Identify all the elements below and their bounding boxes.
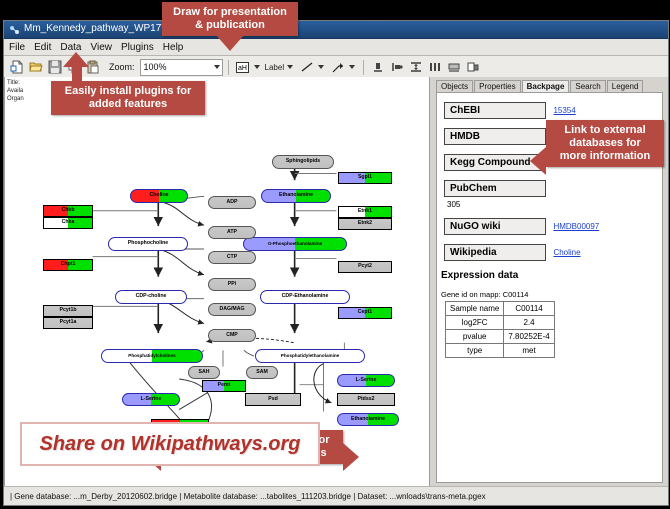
- order-tool-icon[interactable]: [464, 59, 481, 76]
- node-label: Ptdss2: [357, 397, 374, 402]
- section-pubchem-title: PubChem: [444, 180, 546, 197]
- gene-node-etnk1[interactable]: Etnk1: [338, 206, 392, 218]
- table-cell-key: type: [446, 344, 504, 358]
- metabolite-node-sam[interactable]: SAM: [246, 366, 278, 379]
- node-label: CDP-Ethanolamine: [282, 294, 329, 299]
- expression-table: Sample nameC00114log2FC2.4pvalue7.80252E…: [445, 301, 555, 358]
- node-label: Psd: [268, 397, 278, 402]
- align-top-icon[interactable]: [369, 59, 386, 76]
- line-tool-icon[interactable]: [298, 59, 315, 76]
- pathvisio-window: Mm_Kennedy_pathway_WP1771_45176.gpml Fil…: [3, 20, 669, 506]
- table-row: log2FC2.4: [446, 316, 555, 330]
- metabolite-node-ethanolamine-right[interactable]: Ethanolamine: [337, 413, 399, 426]
- gene-node-etnk2[interactable]: Etnk2: [338, 218, 392, 230]
- gene-node-pcyt2[interactable]: Pcyt2: [338, 261, 392, 273]
- share-banner: Share on Wikipathways.org: [20, 422, 320, 466]
- section-chebi-link[interactable]: 15354: [553, 106, 575, 115]
- section-nugo-link[interactable]: HMDB00097: [553, 222, 599, 231]
- menu-item-data[interactable]: Data: [60, 42, 81, 53]
- section-wikipedia: Wikipedia Choline: [444, 242, 662, 261]
- metabolite-node-cdp-ethanolamine[interactable]: CDP-Ethanolamine: [260, 290, 350, 304]
- gene-node-psd[interactable]: Psd: [245, 393, 301, 406]
- table-cell-value: 2.4: [504, 316, 554, 330]
- side-panel-tabs: Objects Properties Backpage Search Legen…: [436, 78, 668, 92]
- metabolite-node-phosphocholine[interactable]: Phosphocholine: [108, 237, 188, 251]
- node-label: Pcyt1b: [59, 308, 76, 313]
- toolbar: Zoom: 100% aH Label: [4, 56, 668, 79]
- callout-plugins-text: Easily install plugins for added feature…: [51, 81, 205, 115]
- node-label: SAM: [256, 370, 268, 375]
- share-banner-text: Share on Wikipathways.org: [40, 433, 301, 456]
- zoom-label: Zoom:: [109, 62, 135, 72]
- gene-node-chpt1[interactable]: Chpt1: [43, 259, 93, 271]
- chevron-down-icon[interactable]: [254, 65, 260, 69]
- node-label: Pcyt1a: [60, 320, 77, 325]
- node-label: Chpt1: [61, 262, 76, 267]
- menu-item-edit[interactable]: Edit: [34, 42, 51, 53]
- node-label: Pcyt2: [358, 264, 372, 269]
- node-label: ADP: [227, 200, 238, 205]
- metabolite-node-choline-top[interactable]: Choline: [130, 189, 188, 203]
- node-label: Etnk1: [358, 209, 372, 214]
- callout-draw-line1: Draw for presentation: [173, 6, 287, 18]
- node-label: Phosphatidylethanolamine: [281, 354, 339, 359]
- label-tool-label: Label: [265, 63, 285, 72]
- metabolite-node-o-phosphoethanolamine[interactable]: O-Phosphoethanolamine: [243, 237, 347, 251]
- callout-plugins-line1: Easily install plugins for: [65, 85, 192, 97]
- svg-text:aH: aH: [238, 65, 247, 72]
- node-label: PPi: [228, 282, 236, 287]
- node-label: SAH: [199, 370, 210, 375]
- section-pubchem-value: 305: [447, 200, 662, 209]
- status-bar: | Gene database: ...m_Derby_20120602.bri…: [4, 486, 668, 505]
- metabolite-node-ctp[interactable]: CTP: [208, 251, 256, 264]
- table-row: Sample nameC00114: [446, 302, 555, 316]
- table-cell-value: C00114: [504, 302, 554, 316]
- screenshot-root: Mm_Kennedy_pathway_WP1771_45176.gpml Fil…: [0, 0, 670, 509]
- tab-objects[interactable]: Objects: [436, 80, 473, 92]
- node-label: CDP-choline: [136, 294, 167, 299]
- menu-bar: File Edit Data View Plugins Help: [4, 39, 668, 56]
- chevron-down-icon[interactable]: [287, 65, 293, 69]
- gene-id-line: Gene id on mapp: C00114: [441, 290, 662, 299]
- tab-legend[interactable]: Legend: [607, 80, 644, 92]
- metabolite-node-sah[interactable]: SAH: [188, 366, 220, 379]
- callout-visualize-arrow-right: [343, 443, 359, 471]
- callout-link-line1: Link to external: [564, 124, 645, 136]
- gene-node-ptdss2[interactable]: Ptdss2: [337, 393, 395, 406]
- gene-node-pcyt1b[interactable]: Pcyt1b: [43, 305, 93, 317]
- callout-link: Link to external databases for more info…: [546, 120, 664, 167]
- metabolite-node-ethanolamine-top[interactable]: Ethanolamine: [261, 189, 331, 203]
- title-bar: Mm_Kennedy_pathway_WP1771_45176.gpml: [4, 21, 668, 39]
- node-label: Etnk2: [358, 221, 372, 226]
- metabolite-node-phosphatidylethanolamine[interactable]: Phosphatidylethanolamine: [255, 349, 365, 363]
- menu-item-view[interactable]: View: [90, 42, 112, 53]
- metabolite-node-l-serine-left[interactable]: L-Serine: [122, 393, 180, 406]
- callout-link-arrow: [530, 147, 546, 175]
- stack-rows-icon[interactable]: [407, 59, 424, 76]
- section-chebi-title: ChEBI: [444, 102, 546, 119]
- save-file-icon[interactable]: [46, 59, 63, 76]
- align-left-icon[interactable]: [388, 59, 405, 76]
- table-row: pvalue7.80252E-4: [446, 330, 555, 344]
- table-cell-key: Sample name: [446, 302, 504, 316]
- callout-link-line3: more information: [560, 150, 650, 162]
- chevron-down-icon[interactable]: [318, 65, 324, 69]
- gene-node-pemt[interactable]: Pemt: [202, 380, 246, 392]
- tab-properties[interactable]: Properties: [474, 80, 520, 92]
- node-label: CTP: [227, 255, 237, 260]
- node-label: Ethanolamine: [279, 193, 313, 198]
- section-nugo: NuGO wiki HMDB00097: [444, 216, 662, 235]
- zoom-value: 100%: [144, 62, 167, 72]
- node-label: Phosphatidylcholines: [128, 354, 175, 359]
- app-icon: [9, 24, 20, 35]
- node-label: O-Phosphoethanolamine: [268, 242, 322, 247]
- menu-item-file[interactable]: File: [9, 42, 25, 53]
- callout-link-text: Link to external databases for more info…: [546, 120, 664, 167]
- gene-node-chka[interactable]: Chka: [43, 217, 93, 229]
- expression-data-header: Expression data: [441, 270, 662, 281]
- callout-plugins: Easily install plugins for added feature…: [51, 81, 205, 115]
- callout-plugins-stem: [72, 65, 82, 83]
- stack-columns-icon[interactable]: [426, 59, 443, 76]
- table-row: typemet: [446, 344, 555, 358]
- metabolite-node-cdp-choline[interactable]: CDP-choline: [115, 290, 187, 304]
- metabolite-node-phosphatidylcholines[interactable]: Phosphatidylcholines: [101, 349, 203, 363]
- node-label: Phosphocholine: [128, 241, 168, 246]
- node-label: Chkb: [62, 208, 75, 213]
- callout-draw-line2: & publication: [195, 19, 265, 31]
- metabolite-node-atp[interactable]: ATP: [208, 226, 256, 239]
- node-label: Cept1: [358, 310, 372, 315]
- section-nugo-title: NuGO wiki: [444, 218, 546, 235]
- zoom-combo[interactable]: 100%: [140, 59, 223, 76]
- section-chebi: ChEBI 15354: [444, 100, 662, 119]
- toolbar-separator: [228, 60, 229, 75]
- section-pubchem: PubChem 305: [444, 178, 662, 209]
- gene-node-sgpl1[interactable]: Sgpl1: [338, 172, 392, 184]
- menu-item-plugins[interactable]: Plugins: [121, 42, 154, 53]
- metabolite-node-cmp[interactable]: CMP: [208, 329, 256, 342]
- node-label: CMP: [226, 333, 238, 338]
- node-label: Sgpl1: [358, 175, 372, 180]
- table-cell-key: pvalue: [446, 330, 504, 344]
- table-cell-value: met: [504, 344, 554, 358]
- metabolite-node-dagmag[interactable]: DAG/MAG: [208, 303, 256, 316]
- node-label: Sphingolipids: [286, 159, 320, 164]
- node-label: L-Serine: [356, 378, 377, 383]
- same-width-icon[interactable]: [445, 59, 462, 76]
- callout-draw-text: Draw for presentation & publication: [162, 2, 298, 36]
- node-label: Pemt: [218, 383, 231, 388]
- section-hmdb-title: HMDB: [444, 128, 546, 145]
- metabolite-node-ppi[interactable]: PPi: [208, 278, 256, 291]
- node-label: Ethanolamine: [351, 417, 385, 422]
- table-cell-key: log2FC: [446, 316, 504, 330]
- open-file-icon[interactable]: [27, 59, 44, 76]
- node-label: Choline: [149, 193, 168, 198]
- callout-link-line2: databases for: [569, 137, 641, 149]
- callout-draw-arrow: [216, 35, 244, 51]
- node-label: L-Serine: [141, 397, 162, 402]
- section-wikipedia-title: Wikipedia: [444, 244, 546, 261]
- pathway-canvas[interactable]: Title: Availa Organ: [4, 77, 430, 487]
- node-label: ATP: [227, 230, 237, 235]
- table-cell-value: 7.80252E-4: [504, 330, 554, 344]
- gene-node-cept1[interactable]: Cept1: [338, 307, 392, 319]
- interaction-tool-icon[interactable]: [329, 59, 346, 76]
- chevron-down-icon[interactable]: [349, 65, 355, 69]
- node-label: DAG/MAG: [219, 307, 244, 312]
- metabolite-node-l-serine-right[interactable]: L-Serine: [337, 374, 395, 387]
- menu-item-help[interactable]: Help: [163, 42, 184, 53]
- metabolite-node-adp[interactable]: ADP: [208, 196, 256, 209]
- callout-plugins-line2: added features: [89, 98, 167, 110]
- section-wikipedia-link[interactable]: Choline: [553, 248, 580, 257]
- node-label: Chka: [62, 220, 75, 225]
- chevron-down-icon: [214, 65, 220, 69]
- gene-node-chkb[interactable]: Chkb: [43, 205, 93, 217]
- tab-search[interactable]: Search: [570, 80, 605, 92]
- gene-node-pcyt1a[interactable]: Pcyt1a: [43, 317, 93, 329]
- metabolite-node-sphingolipids[interactable]: Sphingolipids: [272, 155, 334, 169]
- new-file-icon[interactable]: [8, 59, 25, 76]
- status-bar-text: | Gene database: ...m_Derby_20120602.bri…: [10, 492, 486, 501]
- callout-draw: Draw for presentation & publication: [162, 2, 298, 36]
- toolbar-separator: [363, 60, 364, 75]
- text-label-icon[interactable]: aH: [234, 59, 251, 76]
